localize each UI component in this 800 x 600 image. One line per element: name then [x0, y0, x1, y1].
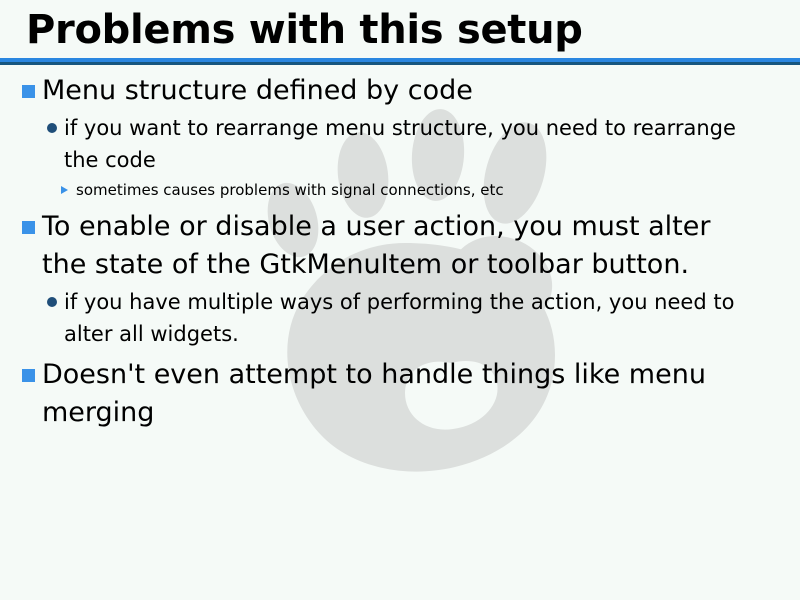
circle-bullet-icon: [47, 123, 57, 133]
bullet-text: if you want to rearrange menu structure,…: [64, 116, 736, 172]
bullet-text: Menu structure defined by code: [42, 75, 473, 106]
slide-canvas: Problems with this setup Menu structure …: [0, 0, 800, 600]
triangle-bullet-icon: [61, 186, 68, 194]
bullet-text: sometimes causes problems with signal co…: [76, 181, 504, 199]
page-title: Problems with this setup: [0, 0, 800, 54]
bullet-text: To enable or disable a user action, you …: [42, 211, 710, 280]
slide-body: Menu structure defined by code if you wa…: [0, 72, 800, 434]
bullet-level1: To enable or disable a user action, you …: [0, 208, 732, 284]
title-divider: [0, 58, 800, 65]
bullet-level2: if you have multiple ways of performing …: [0, 286, 764, 350]
title-divider-lower: [0, 62, 800, 65]
circle-bullet-icon: [47, 297, 57, 307]
square-bullet-icon: [22, 369, 35, 382]
square-bullet-icon: [22, 221, 35, 234]
bullet-level3: sometimes causes problems with signal co…: [0, 178, 776, 202]
bullet-level2: if you want to rearrange menu structure,…: [0, 112, 764, 176]
bullet-text: if you have multiple ways of performing …: [64, 290, 734, 346]
title-block: Problems with this setup: [0, 0, 800, 54]
bullet-text: Doesn't even attempt to handle things li…: [42, 359, 706, 428]
square-bullet-icon: [22, 85, 35, 98]
bullet-level1: Menu structure defined by code: [0, 72, 732, 110]
bullet-level1: Doesn't even attempt to handle things li…: [0, 356, 732, 432]
